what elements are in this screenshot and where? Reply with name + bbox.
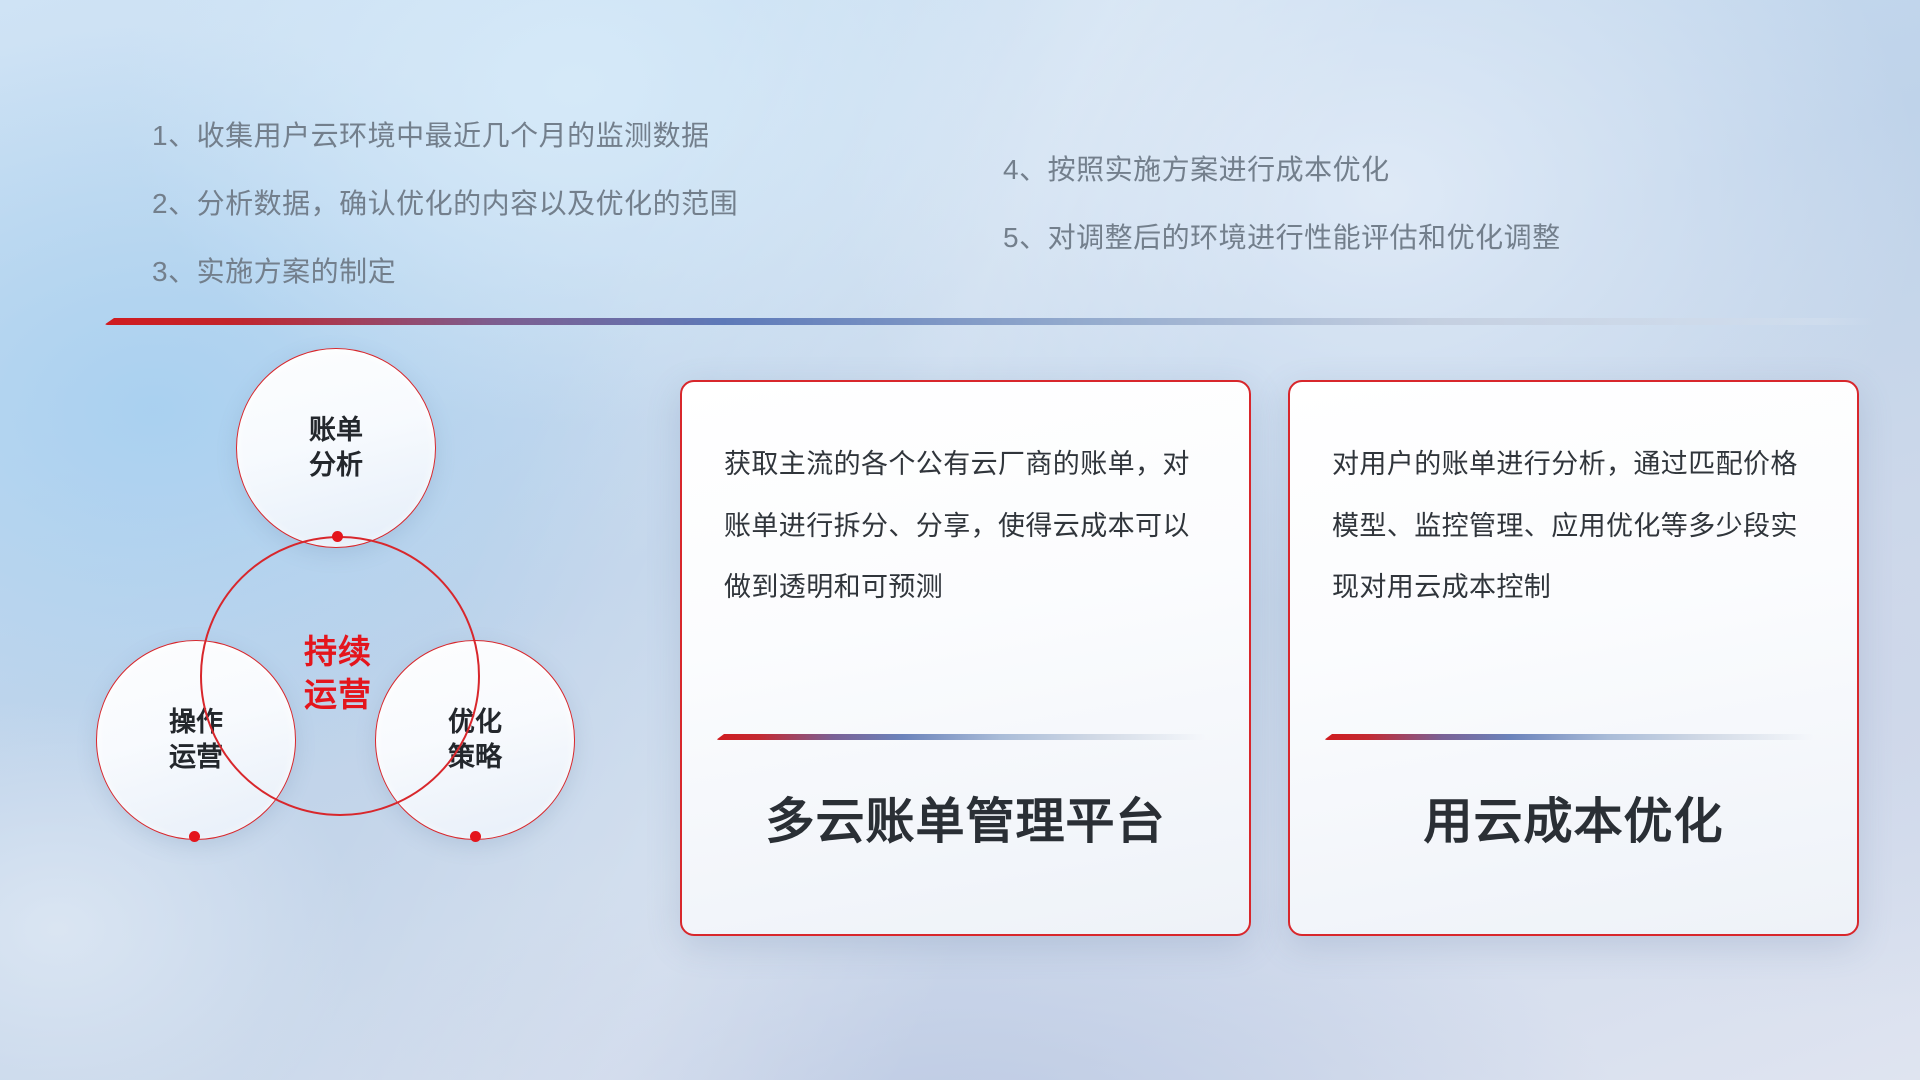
card-title: 用云成本优化 xyxy=(1290,782,1857,853)
step-item-1: 1、收集用户云环境中最近几个月的监测数据 xyxy=(152,122,738,150)
venn-center-label: 持续 运营 xyxy=(200,536,476,812)
card-cloud-cost-optimization[interactable]: 对用户的账单进行分析，通过匹配价格模型、监控管理、应用优化等多少段实现对用云成本… xyxy=(1288,380,1859,936)
venn-node-dot-left xyxy=(189,831,200,842)
venn-label-line2: 分析 xyxy=(309,450,363,480)
card-accent-rule xyxy=(1324,734,1814,740)
venn-label-line1: 账单 xyxy=(309,415,363,445)
venn-center-label-line2: 运营 xyxy=(304,676,372,713)
card-accent-rule xyxy=(716,734,1206,740)
card-title: 多云账单管理平台 xyxy=(682,782,1249,853)
steps-list-right: 4、按照实施方案进行成本优化 5、对调整后的环境进行性能评估和优化调整 xyxy=(1003,156,1561,292)
card-body-text: 对用户的账单进行分析，通过匹配价格模型、监控管理、应用优化等多少段实现对用云成本… xyxy=(1332,434,1823,619)
venn-node-dot-right xyxy=(470,831,481,842)
step-item-5: 5、对调整后的环境进行性能评估和优化调整 xyxy=(1003,224,1561,252)
venn-center-label-line1: 持续 xyxy=(304,633,372,670)
steps-list-left: 1、收集用户云环境中最近几个月的监测数据 2、分析数据，确认优化的内容以及优化的… xyxy=(152,122,738,326)
step-item-2: 2、分析数据，确认优化的内容以及优化的范围 xyxy=(152,190,738,218)
step-item-4: 4、按照实施方案进行成本优化 xyxy=(1003,156,1561,184)
section-divider-line xyxy=(104,318,1874,325)
card-body-text: 获取主流的各个公有云厂商的账单，对账单进行拆分、分享，使得云成本可以做到透明和可… xyxy=(724,434,1215,619)
step-item-3: 3、实施方案的制定 xyxy=(152,258,738,286)
venn-circle-billing-analysis[interactable]: 账单 分析 xyxy=(236,348,436,548)
venn-node-dot-top xyxy=(332,531,343,542)
card-multicloud-billing-platform[interactable]: 获取主流的各个公有云厂商的账单，对账单进行拆分、分享，使得云成本可以做到透明和可… xyxy=(680,380,1251,936)
venn-circle-label: 账单 分析 xyxy=(309,413,363,483)
venn-diagram: 账单 分析 操作 运营 优化 策略 持续 运营 xyxy=(96,348,636,948)
